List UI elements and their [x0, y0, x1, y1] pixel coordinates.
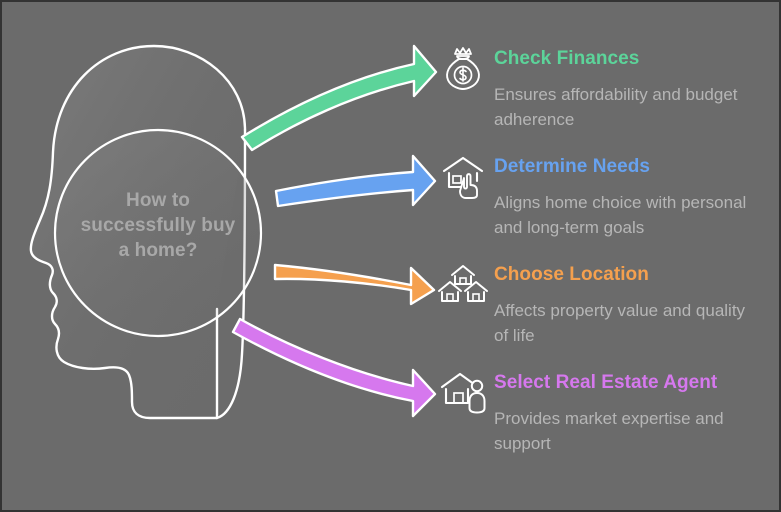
arrow-select-agent: [233, 319, 435, 416]
house-person-icon: [435, 370, 491, 416]
house-hand-icon: [435, 154, 491, 200]
item-description: Ensures affordability and budget adheren…: [494, 82, 759, 132]
item-title: Determine Needs: [494, 156, 650, 178]
infographic-canvas: How to successfully buy a home? Check Fi…: [0, 0, 781, 512]
item-title: Check Finances: [494, 48, 639, 70]
three-houses-icon: [435, 262, 491, 308]
item-title: Select Real Estate Agent: [494, 372, 717, 394]
arrow-determine-needs: [276, 156, 435, 206]
arrow-check-finances: [242, 46, 436, 150]
item-title: Choose Location: [494, 264, 649, 286]
item-description: Affects property value and quality of li…: [494, 298, 759, 348]
item-description: Aligns home choice with personal and lon…: [494, 190, 759, 240]
money-bag-icon: [435, 46, 491, 92]
arrow-choose-location: [275, 265, 434, 304]
item-description: Provides market expertise and support: [494, 406, 759, 456]
